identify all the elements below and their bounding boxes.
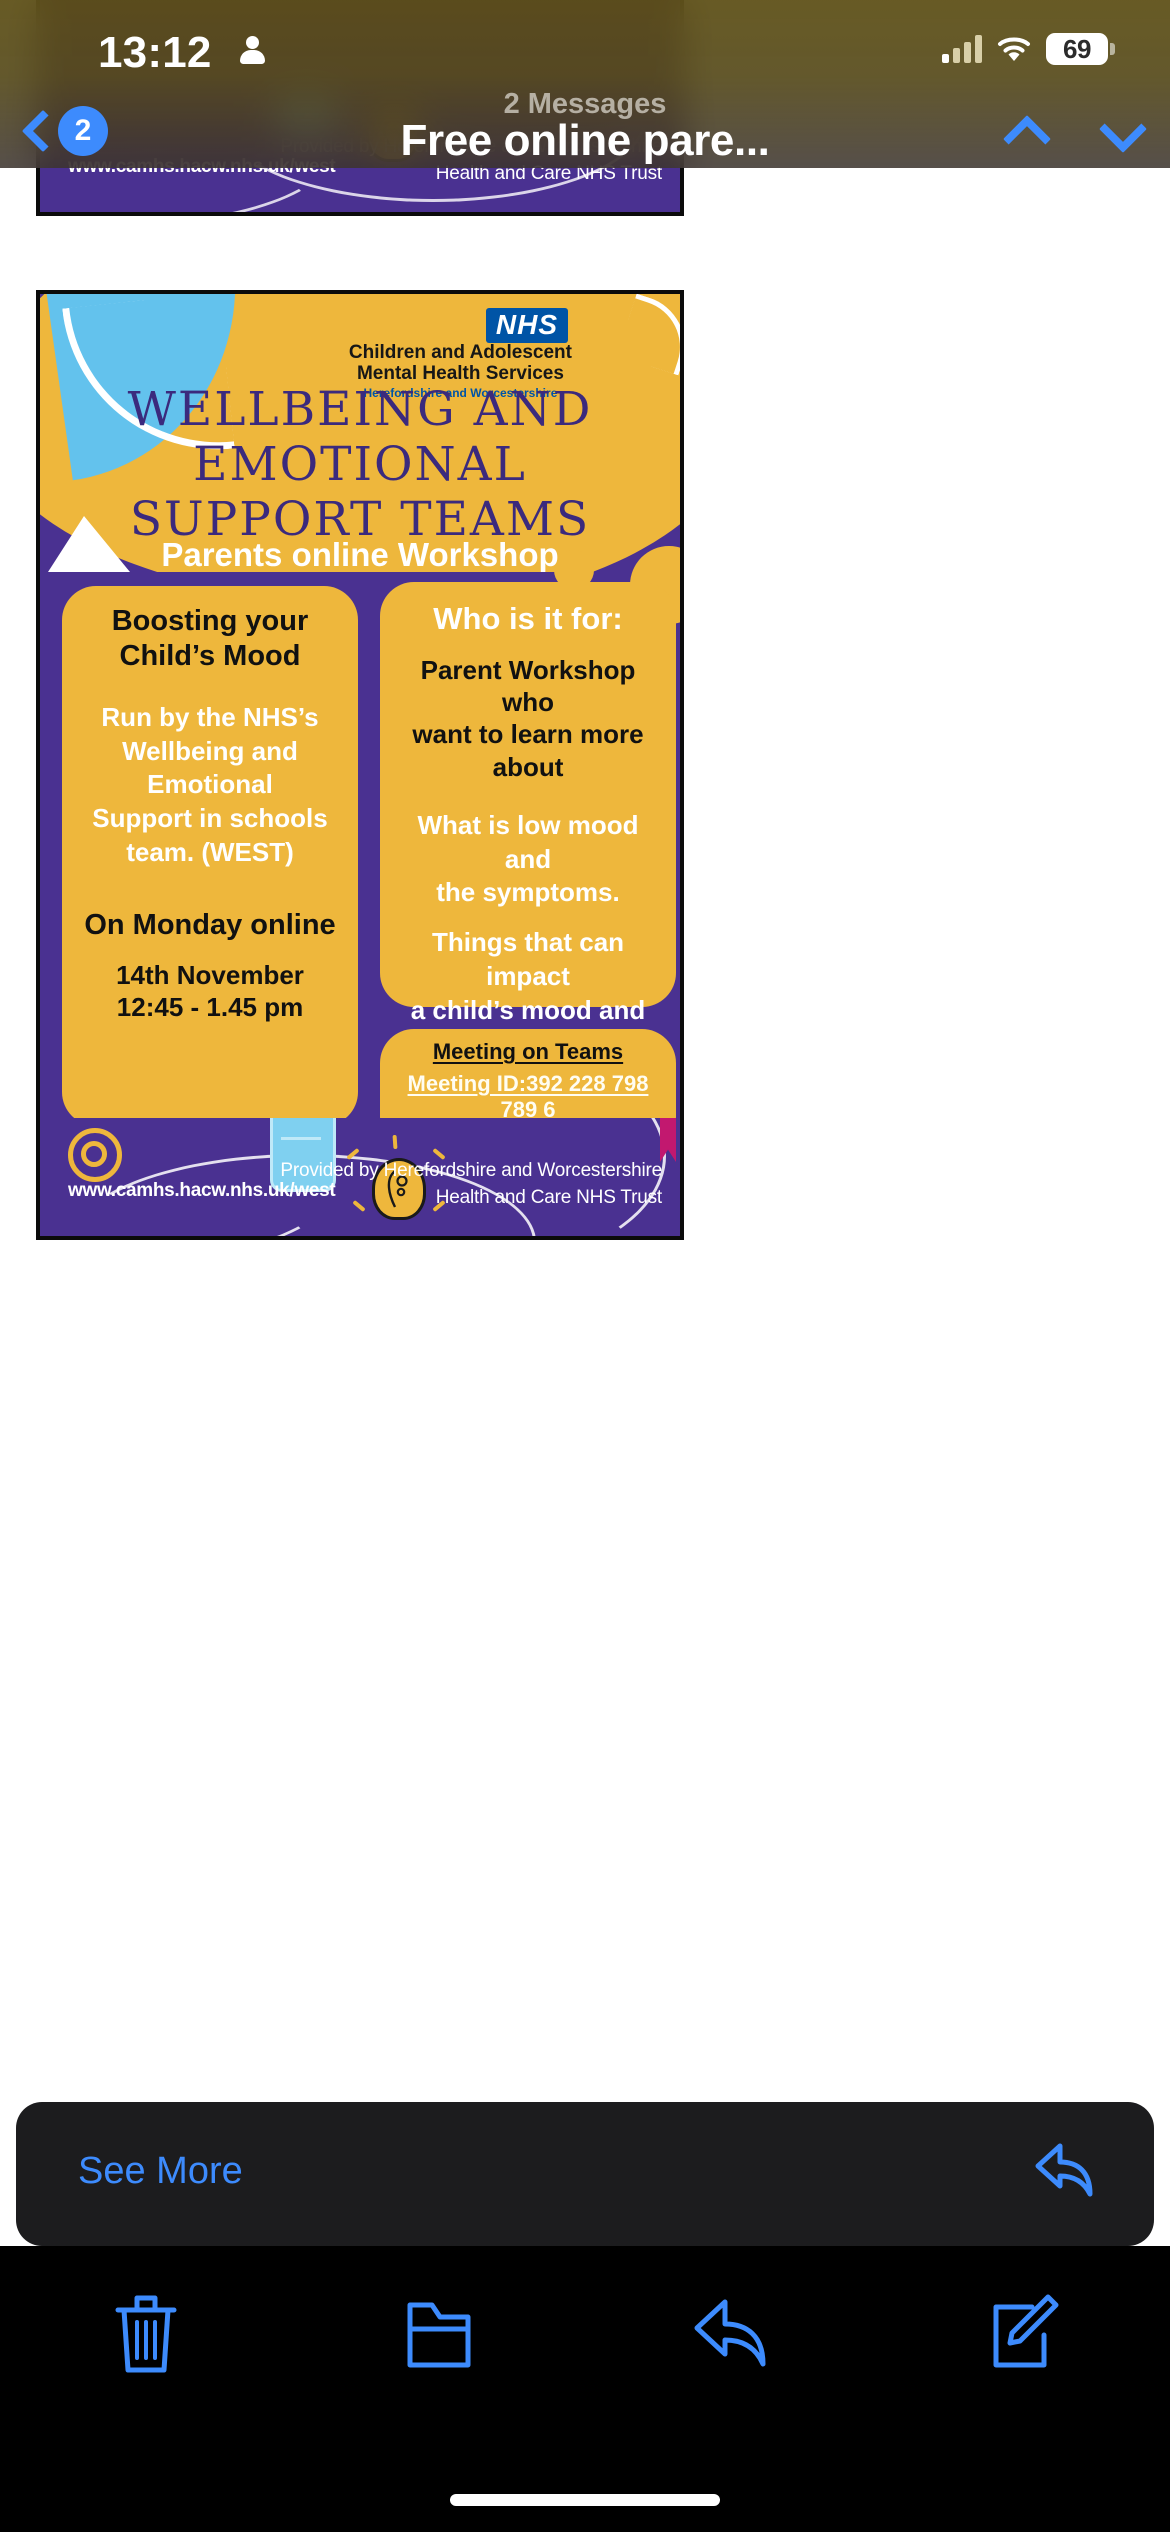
compose-icon[interactable] [984, 2291, 1064, 2375]
chevron-left-icon[interactable] [18, 108, 52, 154]
left-card-body: Run by the NHS’s Wellbeing and Emotional… [78, 701, 342, 870]
status-time: 13:12 [98, 28, 212, 78]
left-card-heading-line-1: Boosting your [78, 604, 342, 639]
message-navigation[interactable] [1004, 110, 1144, 150]
right-card-point-1-line-2: the symptoms. [396, 876, 660, 910]
poster-subtitle: Parents online Workshop [40, 536, 680, 572]
left-card-when-line-3: 12:45 - 1.45 pm [78, 991, 342, 1023]
right-card-point-2-line-1: Things that can impact [396, 926, 660, 994]
nhs-logo: NHS [486, 308, 568, 343]
battery-level: 69 [1063, 34, 1091, 65]
bottom-toolbar [0, 2246, 1170, 2532]
reply-icon[interactable] [689, 2294, 773, 2372]
left-card-body-line-1: Run by the NHS’s [78, 701, 342, 735]
reply-arrow-icon[interactable] [1030, 2138, 1098, 2202]
message-content-area[interactable]: www.camhs.hacw.nhs.uk/west Provided by H… [0, 0, 1170, 2090]
poster-title: WELLBEING AND EMOTIONAL SUPPORT TEAMS [40, 382, 680, 547]
cellular-signal-icon [942, 35, 982, 63]
compose-button[interactable] [878, 2278, 1170, 2388]
battery-indicator: 69 [1046, 33, 1108, 65]
unread-badge[interactable]: 2 [58, 106, 108, 156]
provider-line-2: Health and Care NHS Trust [436, 1187, 662, 1208]
back-button[interactable]: 2 [18, 106, 108, 156]
move-to-folder-button[interactable] [293, 2278, 586, 2388]
card-who-is-it-for: Who is it for: Parent Workshop who want … [380, 582, 676, 1007]
left-card-when-line-2: 14th November [78, 959, 342, 991]
right-card-point-1: What is low mood and the symptoms. [396, 809, 660, 910]
pink-flag-shape [660, 1118, 676, 1162]
person-icon [238, 36, 266, 66]
poster-title-line-1: WELLBEING AND [40, 382, 680, 437]
trash-icon[interactable] [110, 2290, 182, 2376]
provider-line-1: Provided by Herefordshire and Worcesters… [280, 1160, 662, 1181]
left-card-body-line-4: Support in schools [78, 802, 342, 836]
poster-footer-band-main: www.camhs.hacw.nhs.uk/west Provided by H… [40, 1118, 680, 1236]
status-bar: 13:12 69 [0, 0, 1170, 96]
right-card-intro: Parent Workshop who want to learn more a… [396, 654, 660, 783]
card-boosting-mood: Boosting your Child’s Mood Run by the NH… [62, 586, 358, 1126]
meeting-id[interactable]: Meeting ID:392 228 798 789 6 [390, 1071, 666, 1123]
left-card-body-line-2: Wellbeing and [78, 735, 342, 769]
wifi-icon [996, 35, 1032, 63]
see-more-button[interactable]: See More [78, 2150, 243, 2193]
home-indicator[interactable] [450, 2494, 720, 2506]
chevron-down-icon[interactable] [1100, 110, 1144, 150]
left-card-heading: Boosting your Child’s Mood [78, 604, 342, 675]
status-indicators: 69 [942, 28, 1108, 70]
meeting-heading: Meeting on Teams [390, 1039, 666, 1065]
right-card-point-1-line-1: What is low mood and [396, 809, 660, 877]
folder-icon[interactable] [400, 2291, 478, 2375]
camhs-line-1: Children and Adolescent [349, 342, 572, 363]
poster-hero: NHS Children and Adolescent Mental Healt… [40, 294, 680, 572]
reply-button[interactable] [585, 2278, 878, 2388]
see-more-bar[interactable]: See More [16, 2102, 1154, 2246]
delete-button[interactable] [0, 2278, 293, 2388]
chevron-up-icon[interactable] [1004, 110, 1048, 150]
right-card-heading: Who is it for: [396, 600, 660, 638]
left-card-heading-line-2: Child’s Mood [78, 639, 342, 674]
left-card-when-line-1: On Monday online [78, 908, 342, 943]
left-card-body-line-5: team. (WEST) [78, 836, 342, 870]
left-card-body-line-3: Emotional [78, 768, 342, 802]
poster-title-line-2: EMOTIONAL [40, 437, 680, 492]
left-card-when: On Monday online 14th November 12:45 - 1… [78, 908, 342, 1024]
navigation-bar: 2 Messages Free online pare... 2 [0, 96, 1170, 168]
message-detail-screen: www.camhs.hacw.nhs.uk/west Provided by H… [0, 0, 1170, 2532]
spiral-icon [68, 1128, 122, 1182]
poster-attachment-main[interactable]: NHS Children and Adolescent Mental Healt… [36, 290, 684, 1240]
poster-provider-main: Provided by Herefordshire and Worcesters… [280, 1158, 662, 1212]
nav-title: Free online pare... [0, 116, 1170, 166]
right-card-intro-line-2: want to learn more about [396, 718, 660, 782]
right-card-intro-line-1: Parent Workshop who [396, 654, 660, 718]
